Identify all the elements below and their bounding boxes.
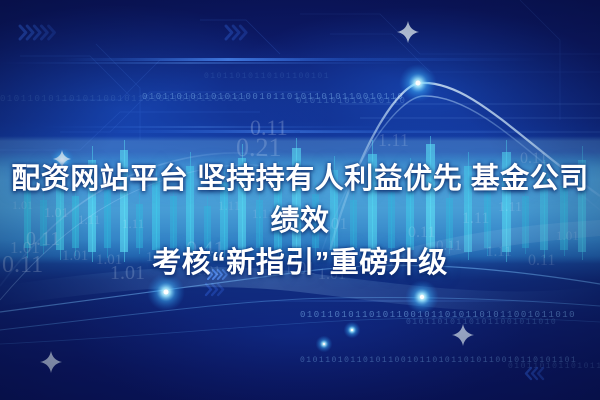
stock-news-banner: 0.110.211.110.111.111.011.111.110.111.01… bbox=[0, 0, 600, 400]
vignette-overlay bbox=[0, 0, 600, 400]
